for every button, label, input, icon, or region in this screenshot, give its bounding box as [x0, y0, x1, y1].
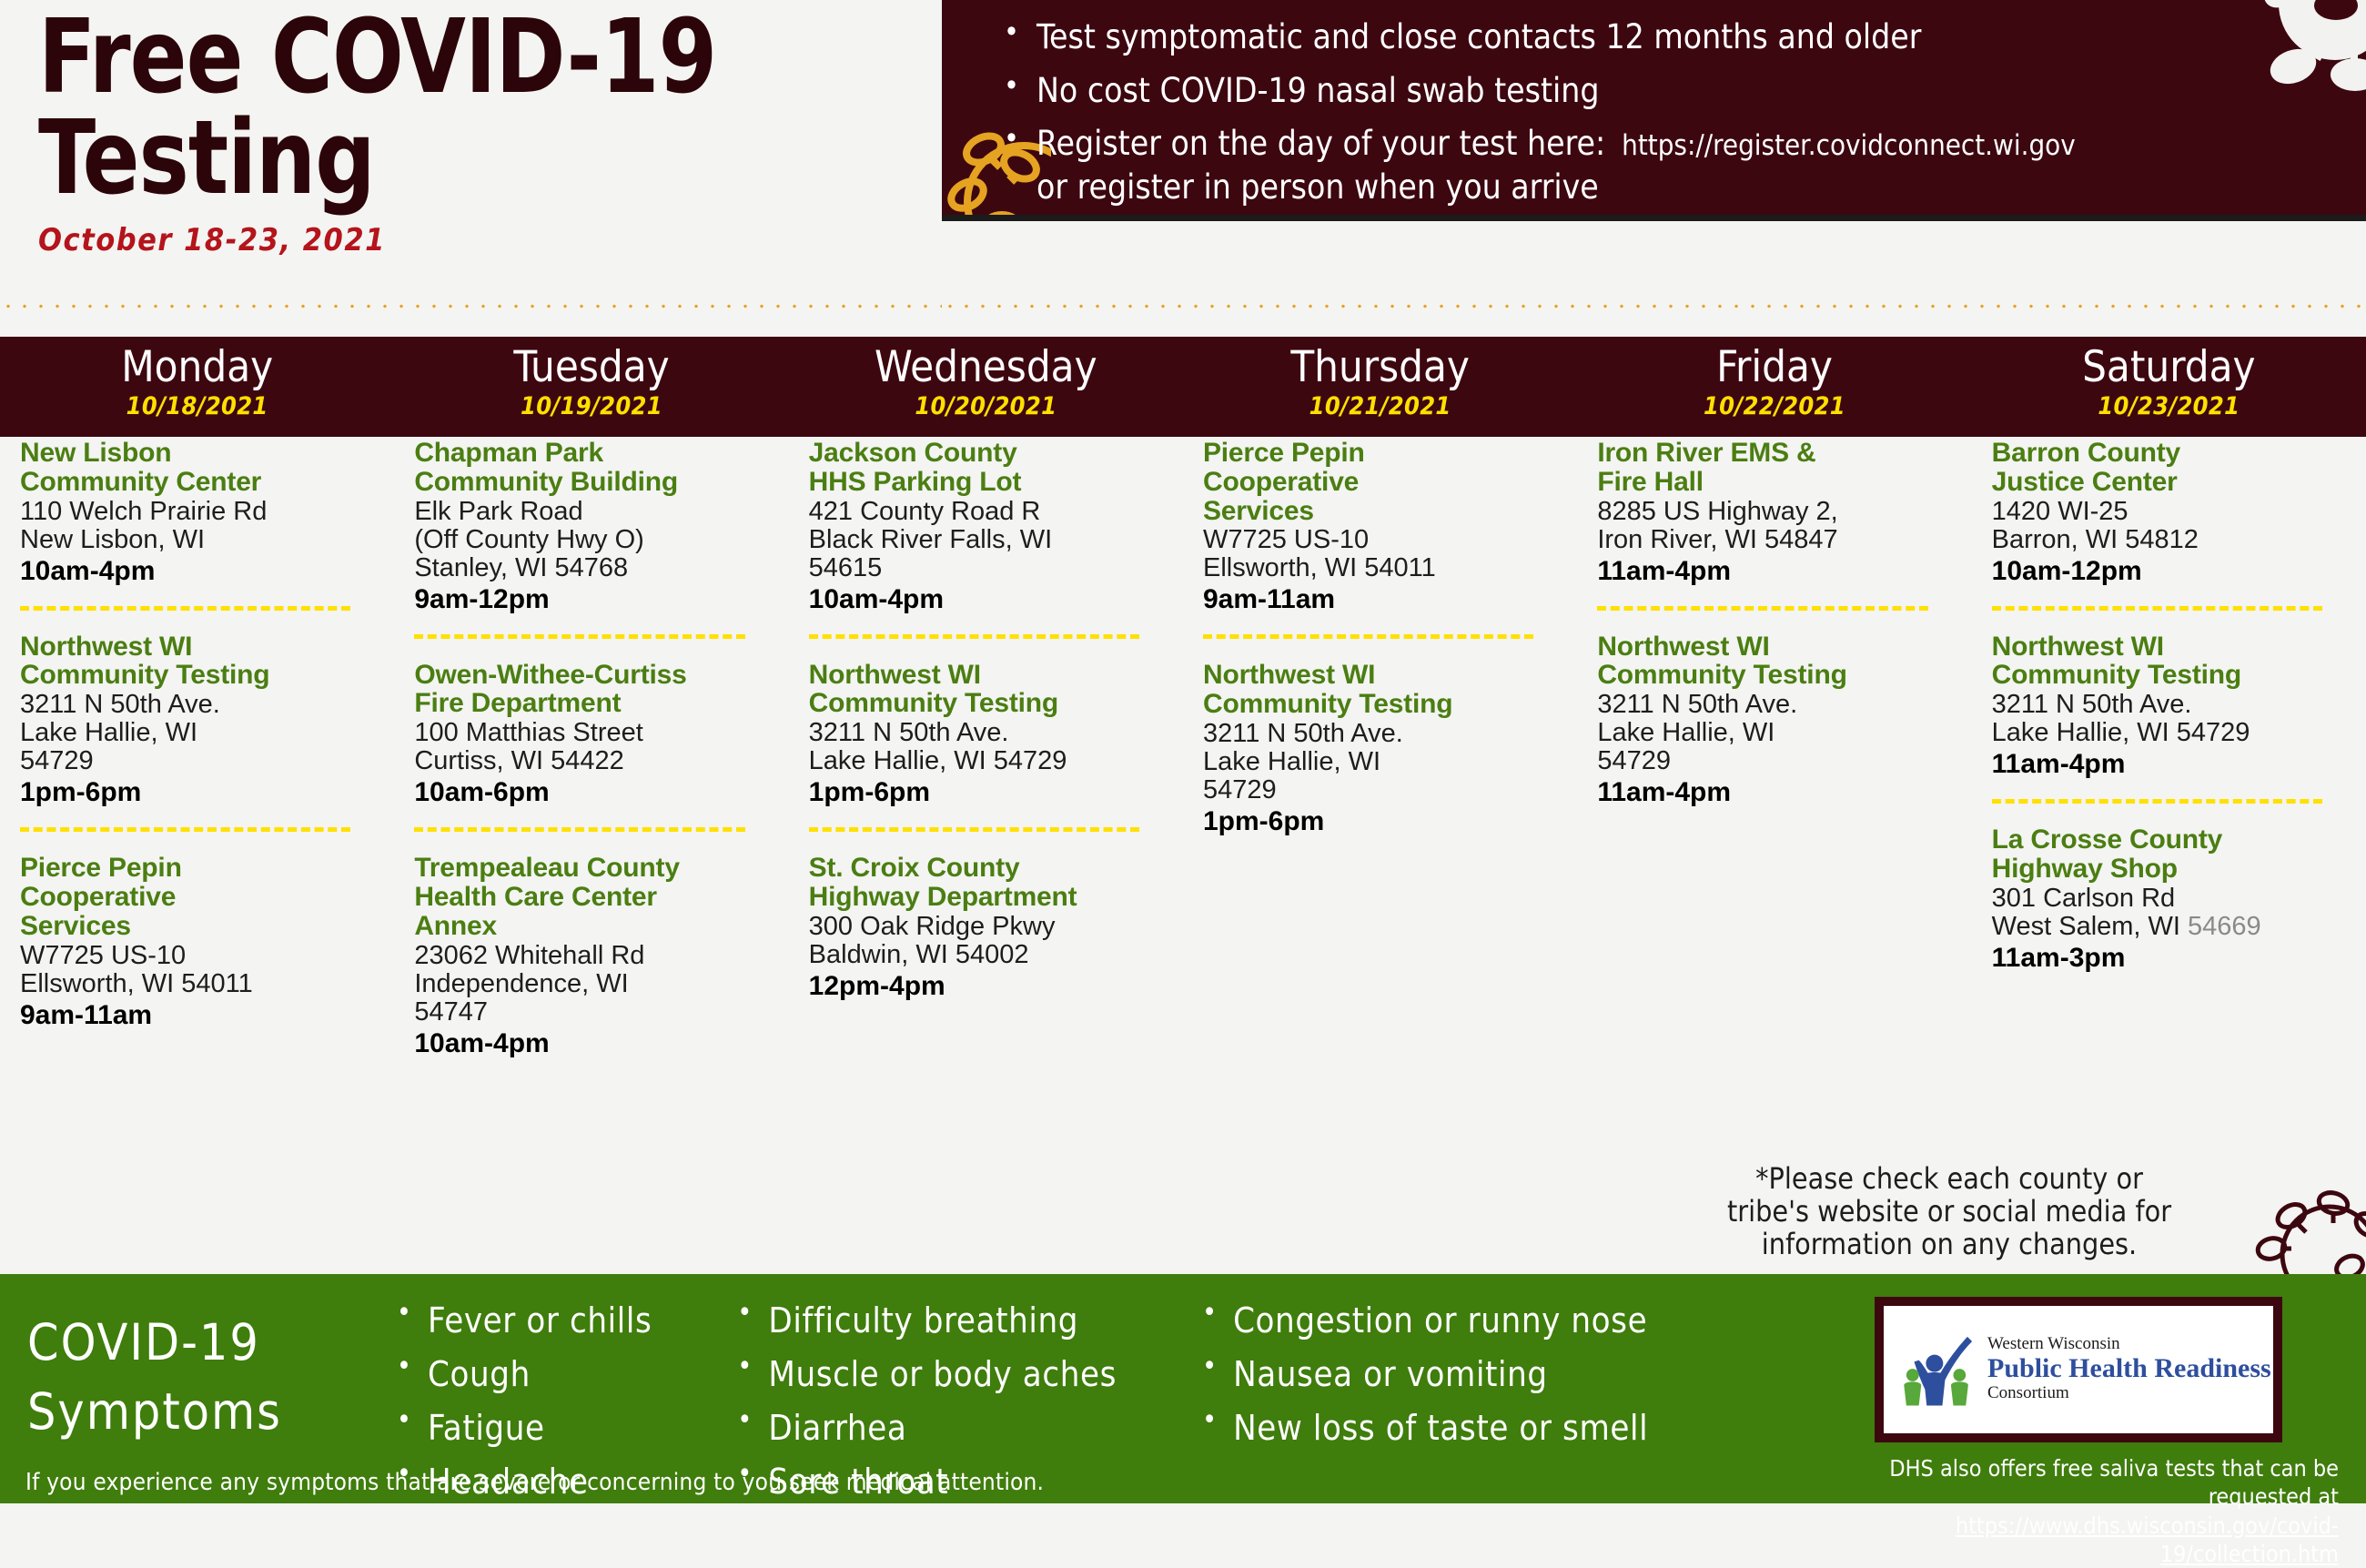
changes-note: *Please check each county ortribe's webs… — [1658, 1163, 2240, 1260]
site-address: 300 Oak Ridge PkwyBaldwin, WI 54002 — [809, 913, 1167, 969]
symptom-item: Nausea or vomiting — [1197, 1357, 1648, 1391]
banner-bullet-list: Test symptomatic and close contacts 12 m… — [1004, 20, 2366, 161]
site-separator — [1992, 606, 2322, 611]
title-line-1: Free COVID-19 — [38, 7, 859, 108]
site-hours: 9am-11am — [1203, 583, 1561, 616]
register-url-link[interactable]: https://register.covidconnect.wi.gov — [1622, 129, 2076, 162]
testing-site: Northwest WICommunity Testing3211 N 50th… — [1992, 632, 2350, 782]
site-name: St. Croix CountyHighway Department — [809, 854, 1167, 912]
site-address: 3211 N 50th Ave.Lake Hallie, WI54729 — [20, 691, 378, 775]
day-date-label: 10/19/2021 — [394, 392, 788, 420]
day-column-thursday: Pierce PepinCooperativeServicesW7725 US-… — [1183, 439, 1577, 1256]
symptom-item: Difficulty breathing — [732, 1303, 1117, 1338]
symptom-item: Fever or chills — [391, 1303, 652, 1338]
symptom-item: Fatigue — [391, 1411, 652, 1445]
banner-bullet-2: No cost COVID-19 nasal swab testing — [1004, 74, 2366, 108]
site-address: 301 Carlson RdWest Salem, WI 54669 — [1992, 885, 2350, 941]
people-checkmark-logo-icon — [1900, 1330, 1978, 1409]
site-name: Northwest WICommunity Testing — [809, 661, 1167, 719]
logo-wordmark: Western Wisconsin Public Health Readines… — [1987, 1335, 2271, 1403]
symptom-item: Cough — [391, 1357, 652, 1391]
day-header-tuesday: Tuesday 10/19/2021 — [394, 337, 788, 437]
site-separator — [809, 634, 1139, 639]
day-column-wednesday: Jackson CountyHHS Parking Lot421 County … — [789, 439, 1183, 1256]
site-address: W7725 US-10Ellsworth, WI 54011 — [1203, 526, 1561, 582]
testing-site: Northwest WICommunity Testing3211 N 50th… — [809, 661, 1167, 810]
site-name: La Crosse CountyHighway Shop — [1992, 825, 2350, 884]
site-separator — [1992, 799, 2322, 804]
testing-site: Owen-Withee-CurtissFire Department100 Ma… — [414, 661, 772, 810]
site-separator — [20, 606, 350, 611]
site-separator — [20, 827, 350, 832]
site-address: W7725 US-10Ellsworth, WI 54011 — [20, 942, 378, 998]
site-name: New LisbonCommunity Center — [20, 439, 378, 497]
site-address: 100 Matthias StreetCurtiss, WI 54422 — [414, 719, 772, 775]
site-hours: 9am-12pm — [414, 583, 772, 616]
dhs-collection-link[interactable]: https://www.dhs.wisconsin.gov/covid-19/c… — [1829, 1512, 2339, 1568]
logo-line-1: Western Wisconsin — [1987, 1335, 2271, 1354]
testing-site: Iron River EMS &Fire Hall8285 US Highway… — [1597, 439, 1955, 588]
site-name: Iron River EMS &Fire Hall — [1597, 439, 1955, 497]
banner-bullet-2-text: No cost COVID-19 nasal swab testing — [1036, 71, 1600, 110]
symptoms-title-line-1: COVID-19 — [27, 1309, 282, 1378]
site-hours: 10am-12pm — [1992, 555, 2350, 588]
day-column-tuesday: Chapman ParkCommunity BuildingElk Park R… — [394, 439, 788, 1256]
site-name: Northwest WICommunity Testing — [1597, 632, 1955, 691]
site-address: 421 County Road RBlack River Falls, WI54… — [809, 498, 1167, 582]
testing-site: Pierce PepinCooperativeServicesW7725 US-… — [1203, 439, 1561, 616]
testing-site: Barron CountyJustice Center1420 WI-25Bar… — [1992, 439, 2350, 588]
site-name: Pierce PepinCooperativeServices — [20, 854, 378, 940]
site-name: Pierce PepinCooperativeServices — [1203, 439, 1561, 525]
site-separator — [414, 827, 744, 832]
virus-outline-decoration-icon — [2239, 1183, 2366, 1283]
day-date-label: 10/23/2021 — [1972, 392, 2366, 420]
day-column-saturday: Barron CountyJustice Center1420 WI-25Bar… — [1972, 439, 2366, 1256]
banner-bullet-3: Register on the day of your test here:ht… — [1004, 126, 2366, 161]
logo-line-2: Public Health Readiness — [1987, 1354, 2271, 1383]
day-header-friday: Friday 10/22/2021 — [1577, 337, 1971, 437]
testing-site: Pierce PepinCooperativeServicesW7725 US-… — [20, 854, 378, 1031]
day-header-thursday: Thursday 10/21/2021 — [1183, 337, 1577, 437]
site-address: 3211 N 50th Ave.Lake Hallie, WI54729 — [1597, 691, 1955, 775]
day-date-label: 10/21/2021 — [1183, 392, 1577, 420]
site-separator — [809, 827, 1139, 832]
site-hours: 1pm-6pm — [20, 776, 378, 809]
day-date-label: 10/20/2021 — [789, 392, 1183, 420]
consortium-logo: Western Wisconsin Public Health Readines… — [1875, 1297, 2282, 1442]
day-date-label: 10/18/2021 — [0, 392, 394, 420]
medical-disclaimer: If you experience any symptoms that are … — [25, 1469, 1044, 1496]
testing-site: Trempealeau CountyHealth Care CenterAnne… — [414, 854, 772, 1059]
symptom-item: New loss of taste or smell — [1197, 1411, 1648, 1445]
symptoms-title: COVID-19 Symptoms — [27, 1309, 282, 1447]
site-address: 3211 N 50th Ave.Lake Hallie, WI 54729 — [1992, 691, 2350, 747]
day-name-label: Wednesday — [789, 342, 1183, 392]
site-name: Northwest WICommunity Testing — [20, 632, 378, 691]
banner-bullet-1: Test symptomatic and close contacts 12 m… — [1004, 20, 2366, 55]
banner-bullet-3-text: Register on the day of your test here: — [1036, 124, 1605, 163]
site-hours: 11am-3pm — [1992, 942, 2350, 975]
site-name: Trempealeau CountyHealth Care CenterAnne… — [414, 854, 772, 940]
info-banner: Test symptomatic and close contacts 12 m… — [942, 0, 2366, 221]
symptom-column-3: Congestion or runny noseNausea or vomiti… — [1197, 1303, 1648, 1518]
site-address: Elk Park Road(Off County Hwy O)Stanley, … — [414, 498, 772, 582]
site-separator — [1597, 606, 1927, 611]
testing-site: Northwest WICommunity Testing3211 N 50th… — [1203, 661, 1561, 838]
day-header-monday: Monday 10/18/2021 — [0, 337, 394, 437]
day-name-label: Thursday — [1183, 342, 1577, 392]
day-date-label: 10/22/2021 — [1577, 392, 1971, 420]
dhs-saliva-note: DHS also offers free saliva tests that c… — [1829, 1454, 2339, 1568]
site-name: Northwest WICommunity Testing — [1203, 661, 1561, 719]
site-name: Barron CountyJustice Center — [1992, 439, 2350, 497]
header-area: Free COVID-19 Testing October 18-23, 202… — [0, 0, 2366, 332]
site-hours: 12pm-4pm — [809, 970, 1167, 1003]
day-name-label: Monday — [0, 342, 394, 392]
site-hours: 10am-4pm — [414, 1027, 772, 1060]
footer-symptoms-bar: COVID-19 Symptoms Fever or chillsCoughFa… — [0, 1274, 2366, 1503]
symptom-item: Diarrhea — [732, 1411, 1117, 1445]
day-header-saturday: Saturday 10/23/2021 — [1972, 337, 2366, 437]
day-column-friday: Iron River EMS &Fire Hall8285 US Highway… — [1577, 439, 1971, 1256]
site-hours: 11am-4pm — [1992, 748, 2350, 781]
symptom-item: Muscle or body aches — [732, 1357, 1117, 1391]
testing-site: Northwest WICommunity Testing3211 N 50th… — [20, 632, 378, 810]
testing-site: La Crosse CountyHighway Shop301 Carlson … — [1992, 825, 2350, 975]
site-address: 8285 US Highway 2,Iron River, WI 54847 — [1597, 498, 1955, 554]
site-hours: 10am-4pm — [809, 583, 1167, 616]
day-column-monday: New LisbonCommunity Center110 Welch Prai… — [0, 439, 394, 1256]
site-hours: 1pm-6pm — [809, 776, 1167, 809]
testing-site: Chapman ParkCommunity BuildingElk Park R… — [414, 439, 772, 616]
site-address: 3211 N 50th Ave.Lake Hallie, WI 54729 — [809, 719, 1167, 775]
day-name-label: Tuesday — [394, 342, 788, 392]
site-name: Owen-Withee-CurtissFire Department — [414, 661, 772, 719]
schedule-grid: New LisbonCommunity Center110 Welch Prai… — [0, 439, 2366, 1256]
page-title: Free COVID-19 Testing October 18-23, 202… — [38, 7, 930, 258]
title-line-2: Testing — [38, 108, 859, 209]
date-range-label: October 18-23, 2021 — [38, 222, 930, 258]
site-hours: 11am-4pm — [1597, 555, 1955, 588]
site-hours: 10am-6pm — [414, 776, 772, 809]
site-address: 3211 N 50th Ave.Lake Hallie, WI54729 — [1203, 720, 1561, 804]
testing-site: St. Croix CountyHighway Department300 Oa… — [809, 854, 1167, 1003]
symptom-item: Congestion or runny nose — [1197, 1303, 1648, 1338]
testing-site: Jackson CountyHHS Parking Lot421 County … — [809, 439, 1167, 616]
testing-site: New LisbonCommunity Center110 Welch Prai… — [20, 439, 378, 588]
site-name: Northwest WICommunity Testing — [1992, 632, 2350, 691]
site-separator — [1203, 634, 1533, 639]
day-header-bar: Monday 10/18/2021 Tuesday 10/19/2021 Wed… — [0, 337, 2366, 437]
register-continuation-text: or register in person when you arrive — [1036, 167, 2366, 207]
site-separator — [414, 634, 744, 639]
dotted-divider-left — [0, 304, 942, 309]
site-address: 110 Welch Prairie RdNew Lisbon, WI — [20, 498, 378, 554]
testing-site: Northwest WICommunity Testing3211 N 50th… — [1597, 632, 1955, 810]
site-address: 1420 WI-25Barron, WI 54812 — [1992, 498, 2350, 554]
site-hours: 11am-4pm — [1597, 776, 1955, 809]
day-name-label: Saturday — [1972, 342, 2366, 392]
site-hours: 9am-11am — [20, 999, 378, 1032]
site-hours: 1pm-6pm — [1203, 805, 1561, 838]
logo-line-3: Consortium — [1987, 1383, 2271, 1404]
site-name: Jackson CountyHHS Parking Lot — [809, 439, 1167, 497]
day-header-wednesday: Wednesday 10/20/2021 — [789, 337, 1183, 437]
site-name: Chapman ParkCommunity Building — [414, 439, 772, 497]
site-hours: 10am-4pm — [20, 555, 378, 588]
site-address: 23062 Whitehall RdIndependence, WI54747 — [414, 942, 772, 1027]
dotted-divider-right — [942, 304, 2366, 309]
day-name-label: Friday — [1577, 342, 1971, 392]
banner-bullet-1-text: Test symptomatic and close contacts 12 m… — [1036, 17, 1921, 56]
symptoms-title-line-2: Symptoms — [27, 1378, 282, 1447]
dhs-note-text: DHS also offers free saliva tests that c… — [1889, 1455, 2339, 1510]
